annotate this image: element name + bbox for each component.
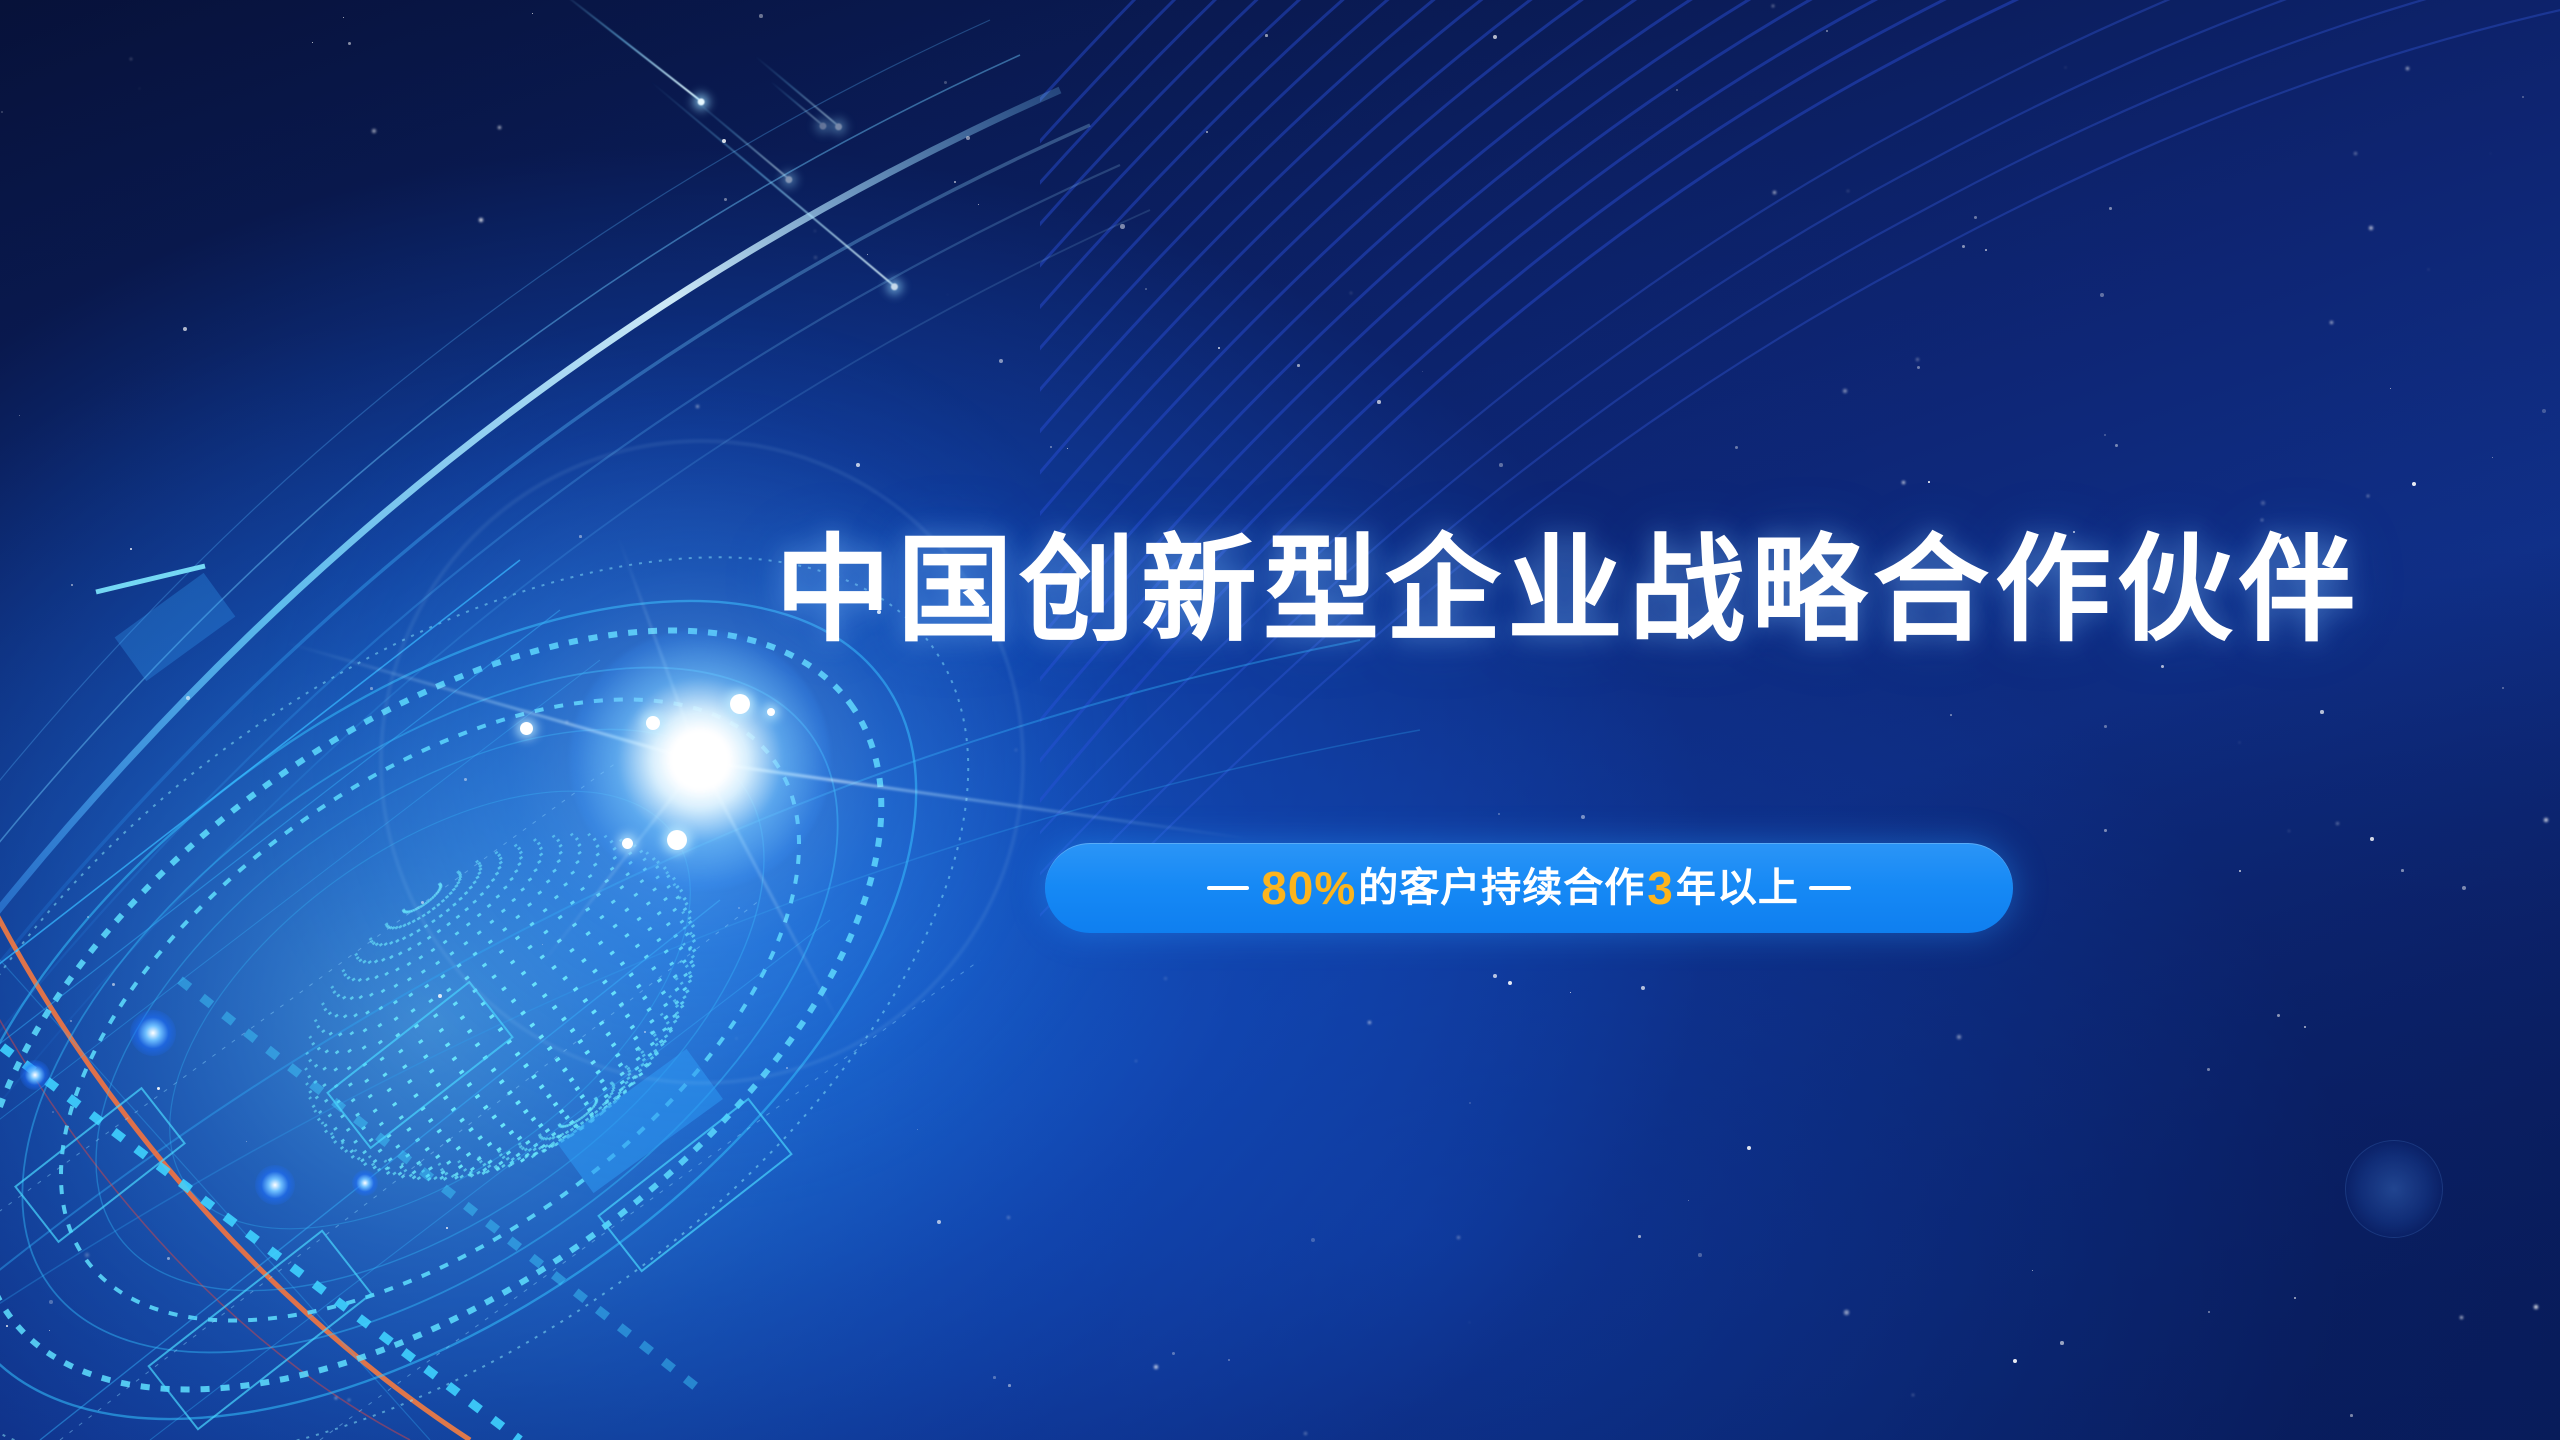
page-title: 中国创新型企业战略合作伙伴 (775, 528, 2361, 653)
star-particle (1493, 35, 1497, 39)
star-particle (421, 901, 424, 904)
star-particle (1912, 1394, 1914, 1396)
star-particle (2330, 321, 2333, 324)
star-particle (2239, 870, 2241, 872)
star-particle (1, 111, 3, 113)
star-particle (644, 1031, 646, 1033)
star-particle (167, 1257, 170, 1260)
flare-beam (286, 642, 700, 763)
star-particle (856, 463, 860, 467)
star-particle (1747, 1146, 1751, 1150)
flare-halo (250, 310, 1150, 1210)
flare-beam (539, 761, 701, 968)
star-particle (937, 1220, 941, 1224)
star-particle (2239, 742, 2240, 743)
star-particle (1350, 292, 1352, 294)
star-particle (1493, 974, 1497, 978)
star-particle (2261, 519, 2263, 521)
star-particle (2294, 1297, 2296, 1299)
star-particle (130, 58, 132, 60)
meteor-icon (689, 95, 790, 180)
star-particle (2542, 409, 2546, 413)
star-particle (947, 294, 948, 295)
star-particle (1676, 89, 1678, 91)
star-particle (2060, 1341, 2064, 1345)
star-particle (2350, 1414, 2353, 1417)
star-particle (479, 218, 483, 222)
star-particle (1457, 1236, 1460, 1239)
star-particle (1974, 216, 1977, 219)
star-particle (348, 1399, 350, 1401)
star-particle (1311, 1238, 1315, 1242)
star-particle (1950, 714, 1952, 716)
star-particle (2104, 725, 2107, 728)
flare-node-icon (646, 716, 660, 730)
star-particle (2161, 665, 2164, 668)
badge-trail-rule (1809, 886, 1851, 890)
star-particle (993, 1376, 996, 1379)
flare-node-icon (622, 838, 633, 849)
star-particle (438, 994, 442, 998)
badge-text-mid: 的客户持续合作 (1358, 868, 1645, 908)
star-particle (1015, 749, 1017, 751)
star-particle (372, 129, 376, 133)
star-particle (1469, 1102, 1471, 1104)
star-particle (139, 88, 140, 89)
star-particle (2367, 495, 2369, 497)
star-particle (1135, 1060, 1137, 1062)
star-particle (1297, 364, 1300, 367)
star-particle (944, 81, 947, 84)
badge-lead-rule (1207, 886, 1249, 890)
wave-lines-svg (1040, 0, 2560, 920)
flare-beam (617, 535, 702, 762)
flare-node-icon (520, 722, 533, 735)
star-particle (724, 198, 727, 201)
flare-node-icon (730, 694, 750, 714)
star-particle (2320, 710, 2324, 714)
star-particle (183, 327, 187, 331)
star-particle (1735, 446, 1738, 449)
glow-dot-icon (352, 1170, 378, 1196)
badge-text-tail: 年以上 (1676, 868, 1799, 908)
star-particle (2460, 1316, 2463, 1319)
star-particle (2390, 388, 2391, 389)
star-particle (112, 983, 115, 986)
star-particle (1368, 1021, 1371, 1024)
star-particle (579, 535, 582, 538)
star-particle (1847, 190, 1849, 192)
star-particle (1698, 1253, 1702, 1257)
star-particle (1377, 400, 1381, 404)
meteor-icon (649, 80, 895, 287)
star-particle (1304, 1432, 1307, 1435)
star-particle (1164, 977, 1167, 980)
globe-limb-decoration (0, 0, 2560, 1440)
star-particle (867, 254, 868, 255)
star-particle (1067, 448, 1068, 449)
star-particle (1902, 481, 1905, 484)
star-particle (464, 778, 467, 781)
star-particle (312, 42, 313, 43)
star-particle (1145, 288, 1147, 290)
star-particle (542, 944, 543, 945)
star-particle (696, 405, 699, 408)
star-particle (70, 1020, 72, 1022)
star-particle (2490, 153, 2491, 154)
star-particle (1773, 191, 1776, 194)
star-particle (2065, 67, 2066, 68)
star-particle (2522, 96, 2524, 98)
globe-limb-svg (0, 0, 2560, 1440)
star-particle (1469, 1322, 1470, 1323)
star-particle (2208, 1311, 2210, 1313)
star-particle (1422, 371, 1423, 372)
star-particle (130, 548, 132, 550)
star-particle (1826, 30, 1828, 32)
star-particle (814, 230, 816, 232)
star-particle (2261, 501, 2265, 505)
flare-node-icon (767, 708, 775, 716)
star-particle (1499, 463, 1503, 467)
star-particle (1007, 1216, 1010, 1219)
star-particle (2370, 837, 2374, 841)
star-particle (157, 1087, 160, 1090)
star-particle (2207, 1068, 2210, 1071)
star-particle (2354, 152, 2357, 155)
star-particle (814, 256, 817, 259)
star-particle (2502, 687, 2504, 689)
star-particle (2462, 886, 2466, 890)
star-particle (1772, 5, 1774, 7)
star-particle (348, 42, 351, 45)
star-particle (1265, 34, 1268, 37)
star-particle (87, 916, 89, 918)
star-particle (2104, 829, 2107, 832)
star-particle (2492, 457, 2493, 458)
star-particle (49, 1330, 50, 1331)
star-particle (498, 126, 501, 129)
star-particle (446, 1227, 448, 1229)
meteor-icon (559, 0, 702, 103)
star-particle (2369, 226, 2373, 230)
star-particle (186, 696, 190, 700)
hero-banner: 中国创新型企业战略合作伙伴 80%的客户持续合作3年以上 (0, 0, 2560, 1440)
star-particle (370, 687, 373, 690)
star-particle (2104, 434, 2106, 436)
star-particle (1228, 1359, 1230, 1361)
glow-dot-icon (255, 1165, 295, 1205)
star-particle (1844, 1310, 1849, 1315)
bokeh-flare-icon (2345, 1140, 2443, 1238)
star-particle (2032, 1270, 2033, 1271)
star-particle-field (0, 0, 2560, 1440)
star-particle (335, 1397, 337, 1399)
star-particle (71, 584, 73, 586)
star-particle (532, 13, 533, 14)
stat-badge[interactable]: 80%的客户持续合作3年以上 (1045, 843, 2013, 933)
star-particle (2115, 444, 2118, 447)
star-particle (1008, 1384, 1011, 1387)
meteor-icon (769, 80, 824, 127)
lens-flare-decoration (0, 0, 2560, 1440)
star-particle (786, 1067, 788, 1069)
star-particle (1120, 224, 1125, 229)
star-particle (2428, 269, 2429, 270)
star-particle (343, 17, 344, 18)
star-particle (1218, 347, 1220, 349)
star-particle (2013, 1359, 2017, 1363)
star-particle (2304, 1026, 2306, 1028)
star-particle (1985, 249, 1987, 251)
star-particle (1957, 1035, 1961, 1039)
star-particle (2100, 293, 2104, 297)
star-particle (1172, 1352, 1175, 1355)
star-particle (1843, 389, 1847, 393)
star-particle (6, 1325, 8, 1327)
star-particle (2277, 1014, 2280, 1017)
flare-beam (700, 760, 1255, 841)
star-particle (978, 204, 979, 205)
star-particle (917, 1129, 918, 1130)
wave-lines-decoration (0, 0, 2560, 1440)
stat-years: 3 (1645, 865, 1676, 911)
star-particle (1928, 481, 1930, 483)
star-particle (1154, 1365, 1158, 1369)
star-particle (1641, 986, 1645, 990)
star-particle (49, 1300, 53, 1304)
star-particle (1498, 813, 1500, 815)
meteor-decoration (0, 0, 2560, 1440)
star-particle (1050, 446, 1052, 448)
glow-dot-icon (130, 1010, 176, 1056)
star-particle (2412, 482, 2416, 486)
stat-percent: 80% (1259, 865, 1358, 911)
star-particle (2534, 1305, 2538, 1309)
star-particle (1638, 1235, 1641, 1238)
star-particle (954, 181, 956, 183)
stat-badge-text: 80%的客户持续合作3年以上 (1197, 865, 1861, 911)
meteor-icon (754, 55, 840, 127)
star-particle (738, 907, 740, 909)
star-particle (85, 1253, 89, 1257)
star-particle (1916, 358, 1919, 361)
star-particle (966, 136, 970, 140)
star-particle (759, 14, 763, 18)
star-particle (246, 1141, 247, 1142)
flare-node-icon (667, 830, 687, 850)
star-particle (722, 139, 726, 143)
star-particle (1962, 245, 1965, 248)
star-particle (1917, 366, 1920, 369)
flare-core (570, 630, 830, 890)
star-particle (566, 721, 568, 723)
glow-dot-icon (20, 1060, 50, 1090)
star-particle (19, 415, 20, 416)
star-particle (2406, 67, 2409, 70)
star-particle (2109, 207, 2112, 210)
star-particle (2401, 869, 2404, 872)
star-particle (1570, 992, 1571, 993)
star-particle (1688, 1200, 1689, 1201)
star-particle (1581, 815, 1585, 819)
star-particle (2288, 830, 2290, 832)
star-particle (1206, 131, 1208, 133)
star-particle (2336, 822, 2339, 825)
star-particle (2544, 818, 2548, 822)
star-particle (736, 1038, 737, 1039)
star-particle (1508, 981, 1512, 985)
star-particle (999, 359, 1003, 363)
flare-beam (699, 761, 842, 1027)
star-particle (52, 1111, 54, 1113)
